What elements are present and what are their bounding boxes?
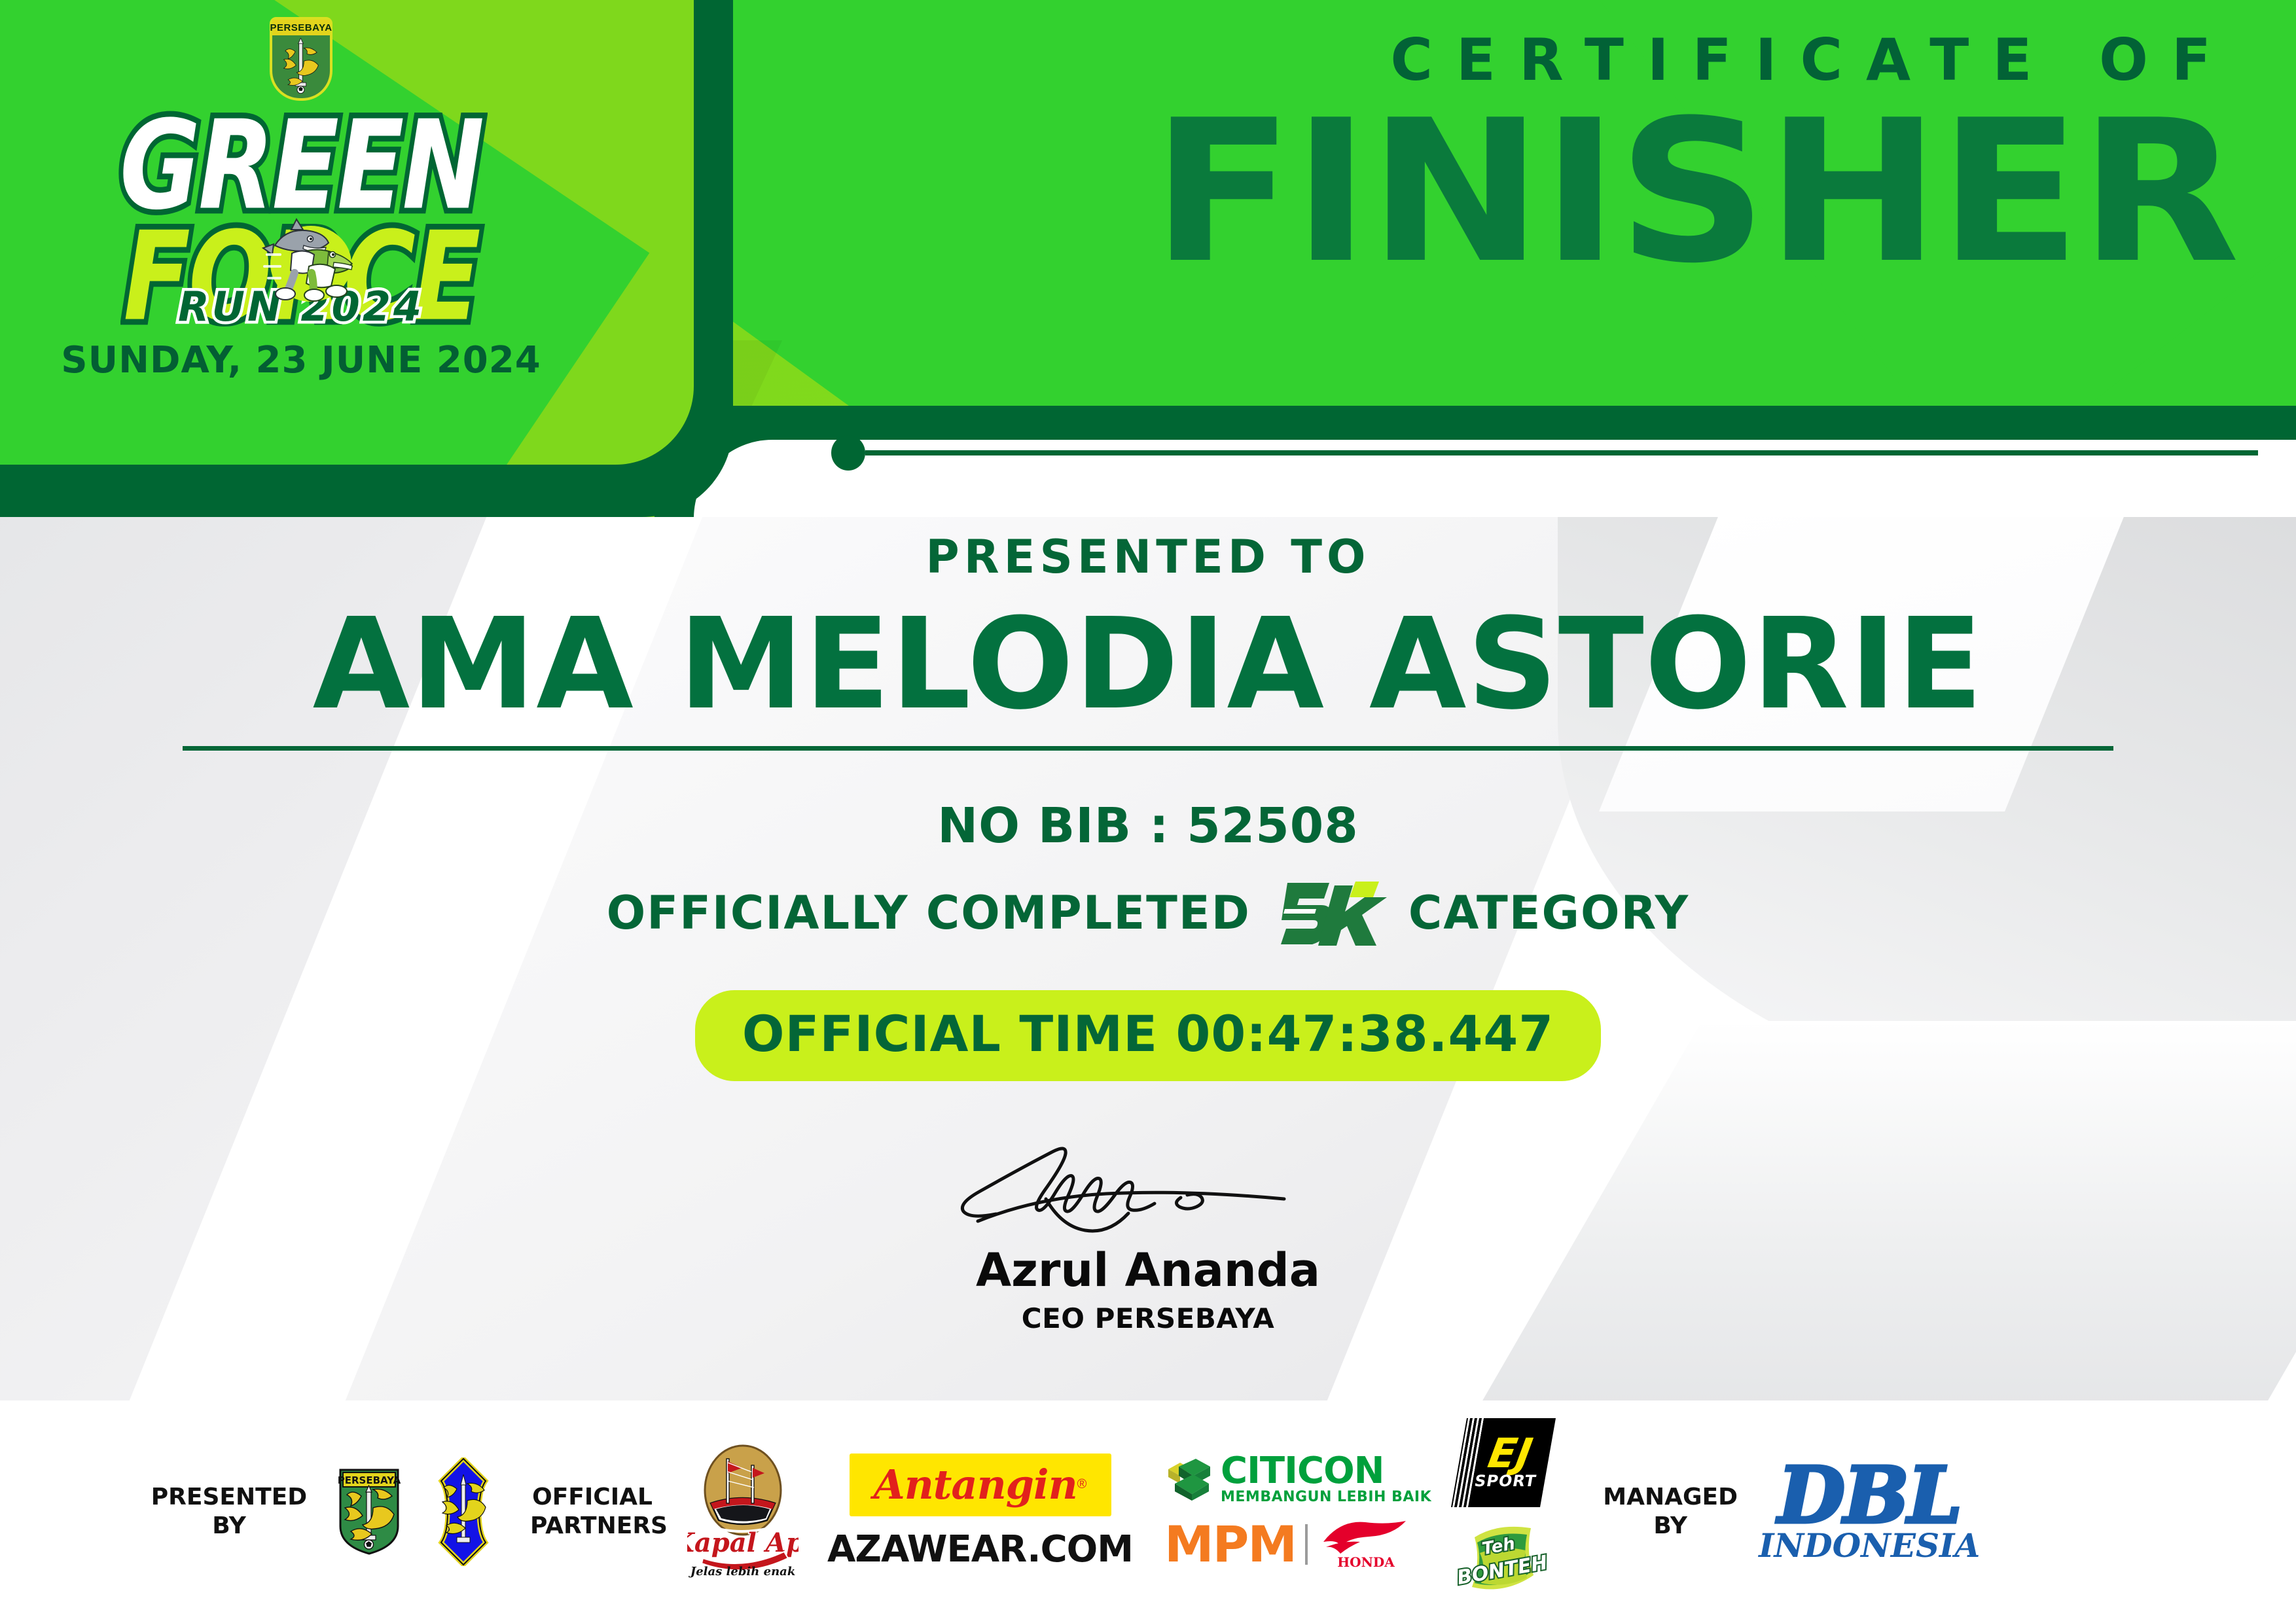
managed-by-label: MANAGED BY [1588, 1483, 1752, 1541]
svg-text:PERSEBAYA: PERSEBAYA [338, 1474, 401, 1486]
completed-suffix: CATEGORY [1408, 886, 1689, 940]
dbl-wordmark: DBL [1778, 1461, 1961, 1529]
antangin-logo-icon: Antangin ® [850, 1454, 1111, 1516]
certificate-title-block: CERTIFICATE OF FINISHER [1152, 26, 2238, 287]
official-time-badge: OFFICIAL TIME 00:47:38.447 [695, 990, 1601, 1081]
category-completion-row: OFFICIALLY COMPLETED CATEGORY [0, 874, 2296, 952]
citicon-mark-icon [1164, 1455, 1213, 1503]
ej-sport-logo-icon: EJ SPORT [1451, 1418, 1556, 1507]
category-5k-icon [1269, 876, 1390, 955]
mpm-honda-divider [1305, 1524, 1308, 1565]
signatory-role: CEO PERSEBAYA [0, 1302, 2296, 1334]
event-logo-block: PERSEBAYA GREEN FORCE [13, 7, 589, 484]
citicon-name: CITICON [1221, 1454, 1431, 1489]
antangin-registered-mark: ® [1077, 1477, 1087, 1492]
certificate: PERSEBAYA GREEN FORCE [0, 0, 2296, 1623]
official-partners-label: OFFICIAL PARTNERS [530, 1483, 655, 1541]
dbl-indonesia-sub: INDONESIA [1759, 1529, 1980, 1562]
persebaya-logo-icon: PERSEBAYA [336, 1467, 402, 1556]
presented-to-label: PRESENTED TO [0, 530, 2296, 584]
antangin-wordmark: Antangin [874, 1461, 1077, 1508]
header-dot-rule [831, 440, 2258, 466]
presented-by-logos: PERSEBAYA [308, 1457, 501, 1566]
completed-prefix: OFFICIALLY COMPLETED [607, 886, 1251, 940]
crest-club-name: PERSEBAYA [272, 20, 330, 35]
citicon-logo-icon: CITICON MEMBANGUN LEBIH BAIK [1164, 1454, 1431, 1505]
presented-by-label: PRESENTED BY [151, 1483, 308, 1541]
shark-crocodile-mascot-icon [255, 213, 367, 311]
official-partners-line-1: OFFICIAL [530, 1483, 655, 1512]
horizontal-rule [865, 450, 2258, 455]
antangin-azawear-stack: Antangin ® AZAWEAR.COM [827, 1454, 1133, 1571]
mpm-wordmark: MPM [1164, 1522, 1296, 1567]
ej-stripes-decoration [1452, 1418, 1485, 1507]
official-partners-line-2: PARTNERS [530, 1512, 655, 1541]
handwritten-signature-icon [939, 1145, 1357, 1237]
recipient-name: AMA MELODIA ASTORIE [0, 599, 2296, 730]
mpm-honda-logo-icon: MPM HONDA [1164, 1518, 1415, 1571]
name-divider [183, 746, 2113, 751]
dbl-indonesia-logo-icon: DBL INDONESIA [1759, 1461, 1980, 1562]
certificate-main-content: PRESENTED TO AMA MELODIA ASTORIE NO BIB … [0, 497, 2296, 1081]
sponsor-footer: PRESENTED BY PERSEBAYA [0, 1400, 2296, 1623]
citicon-tagline: MEMBANGUN LEBIH BAIK [1221, 1489, 1431, 1505]
title-main: FINISHER [1086, 98, 2238, 287]
honda-wing-icon: HONDA [1317, 1518, 1415, 1571]
persebaya-crest-icon: PERSEBAYA [270, 17, 332, 101]
signature-block: Azrul Ananda CEO PERSEBAYA [0, 1145, 2296, 1334]
ej-initials: EJ [1486, 1435, 1535, 1472]
kapal-api-logo-icon: Kapal Api Jelas lebih enak [687, 1443, 798, 1580]
ej-sport-label: SPORT [1473, 1472, 1538, 1490]
crest-artwork-icon [275, 38, 327, 96]
green-force-wordmark: GREEN FORCE [39, 105, 563, 334]
ejsport-bonteh-stack: EJ SPORT Teh BONTEH [1458, 1418, 1549, 1605]
svg-text:HONDA: HONDA [1337, 1554, 1395, 1570]
citicon-wordmark-block: CITICON MEMBANGUN LEBIH BAIK [1221, 1454, 1431, 1505]
citicon-mpm-stack: CITICON MEMBANGUN LEBIH BAIK MPM HONDA [1164, 1454, 1431, 1571]
signatory-name: Azrul Ananda [0, 1243, 2296, 1297]
teh-bonteh-logo-icon: Teh BONTEH [1458, 1514, 1549, 1605]
bib-number-line: NO BIB : 52508 [0, 798, 2296, 854]
surabaya-city-emblem-icon [425, 1457, 501, 1566]
svg-text:Jelas lebih enak: Jelas lebih enak [689, 1565, 796, 1578]
azawear-logo-text: AZAWEAR.COM [827, 1528, 1133, 1571]
dot-marker-icon [831, 435, 865, 471]
